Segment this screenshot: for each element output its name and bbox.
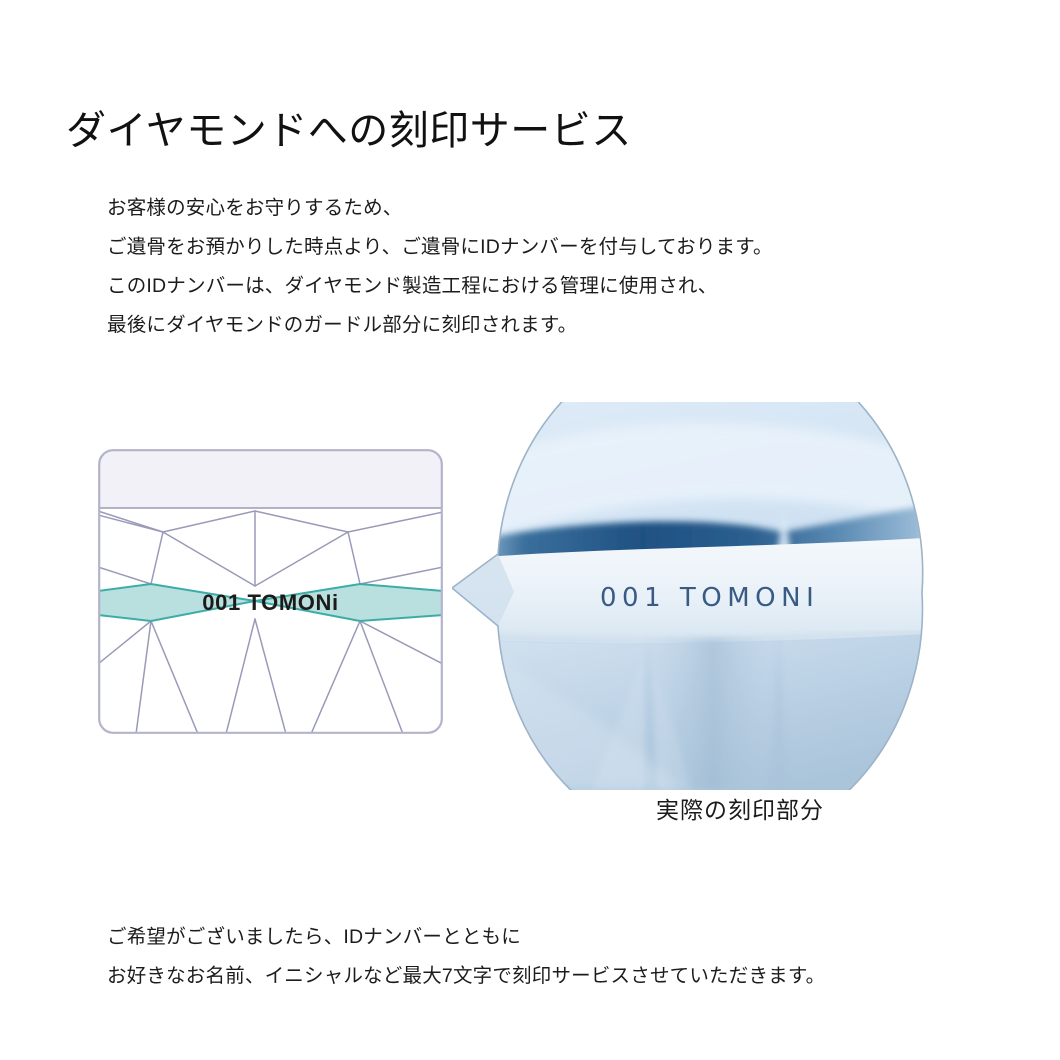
intro-line-1: お客様の安心をお守りするため、 xyxy=(107,189,773,228)
page-root: ダイヤモンドへの刻印サービス お客様の安心をお守りするため、 ご遺骨をお預かりし… xyxy=(0,0,1060,1060)
photo-engraved-text: 001 TOMONI xyxy=(600,583,910,613)
diamond-table-fill xyxy=(98,449,443,508)
intro-line-2: ご遺骨をお預かりした時点より、ご遺骨にIDナンバーを付与しております。 xyxy=(107,228,773,267)
photo-caption: 実際の刻印部分 xyxy=(560,791,920,825)
photo-pavilion-facet-shade xyxy=(648,638,778,790)
diagram-engraved-text: 001 TOMONi xyxy=(98,588,443,618)
outro-line-2: お好きなお名前、イニシャルなど最大7文字で刻印サービスさせていただきます。 xyxy=(107,957,825,996)
intro-line-4: 最後にダイヤモンドのガードル部分に刻印されます。 xyxy=(107,306,773,345)
intro-paragraph: お客様の安心をお守りするため、 ご遺骨をお預かりした時点より、ご遺骨にIDナンバ… xyxy=(107,189,773,345)
outro-line-1: ご希望がございましたら、IDナンバーとともに xyxy=(107,918,825,957)
intro-line-3: このIDナンバーは、ダイヤモンド製造工程における管理に使用され、 xyxy=(107,267,773,306)
page-title: ダイヤモンドへの刻印サービス xyxy=(66,103,632,159)
figure-group: 001 TOMONi xyxy=(0,0,1060,1060)
outro-paragraph: ご希望がございましたら、IDナンバーとともに お好きなお名前、イニシャルなど最大… xyxy=(107,918,825,996)
